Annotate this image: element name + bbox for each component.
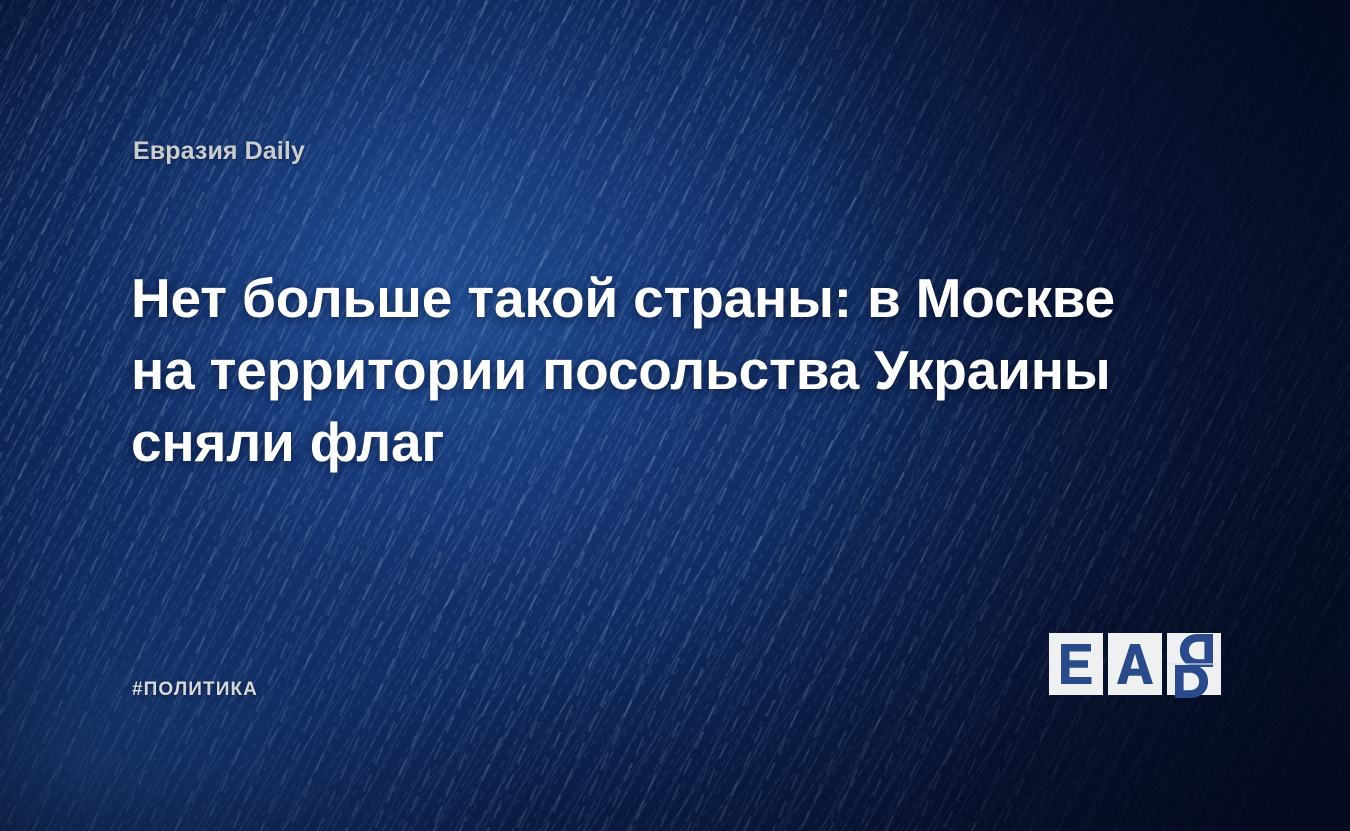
card-content: Евразия Daily Нет больше такой страны: в… (0, 0, 1350, 831)
page-title: Нет больше такой страны: в Москве на тер… (131, 262, 1141, 478)
letter-e-icon (1059, 642, 1093, 686)
headline-line-1: Нет больше такой страны: в Москве (131, 262, 1141, 334)
letter-a-icon (1116, 642, 1154, 686)
logo-tile-a (1108, 633, 1162, 695)
letter-d-split-icon (1167, 633, 1221, 695)
logo-tile-d (1167, 633, 1221, 695)
eadaily-logo[interactable] (1049, 633, 1221, 695)
news-card: Евразия Daily Нет больше такой страны: в… (0, 0, 1350, 831)
headline-line-2: на территории посольства Украины (131, 334, 1141, 406)
brand-wordmark: Евразия Daily (133, 137, 305, 166)
logo-tile-e (1049, 633, 1103, 695)
topic-hashtag[interactable]: #ПОЛИТИКА (132, 679, 258, 701)
headline-line-3: сняли флаг (131, 406, 1141, 478)
